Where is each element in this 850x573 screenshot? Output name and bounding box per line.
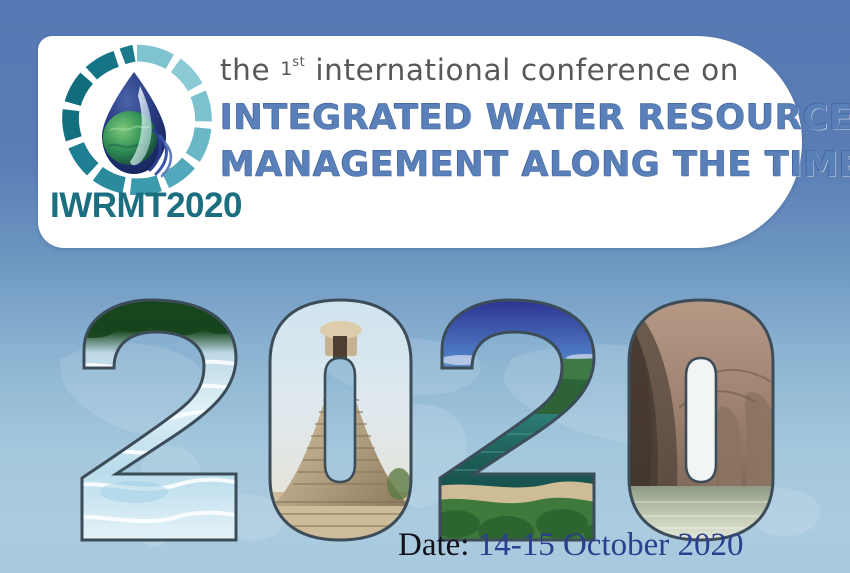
event-date: Date: 14-15 October 2020 — [398, 527, 744, 564]
date-value: 14-15 October 2020 — [478, 527, 744, 563]
conference-title-line-2: MANAGEMENT ALONG THE TIME — [220, 147, 790, 185]
water-droplet-globe-icon — [94, 70, 178, 180]
year-digit-2-reservoir — [428, 296, 618, 544]
conference-logo: IWRMT2020 — [52, 42, 222, 238]
conference-poster: IWRMT2020 the 1st international conferen… — [0, 0, 850, 573]
conference-subtitle: the 1st international conference on — [220, 56, 790, 86]
year-digit-2-rapids — [70, 296, 260, 544]
conference-title-line-1: INTEGRATED WATER RESOURCES — [220, 100, 790, 138]
logo-acronym: IWRMT2020 — [50, 186, 228, 226]
conference-title-block: the 1st international conference on INTE… — [220, 56, 790, 185]
header-banner: IWRMT2020 the 1st international conferen… — [38, 36, 802, 248]
date-label: Date: — [398, 527, 469, 563]
year-digit-0-icehouse — [263, 296, 418, 544]
subtitle-post: international conference on — [305, 53, 739, 87]
subtitle-pre: the — [220, 53, 280, 87]
subtitle-ordinal: 1 — [280, 58, 292, 80]
year-2020-graphic — [70, 296, 790, 544]
year-digit-0-cistern — [621, 296, 781, 544]
subtitle-ordinal-suffix: st — [292, 55, 305, 70]
